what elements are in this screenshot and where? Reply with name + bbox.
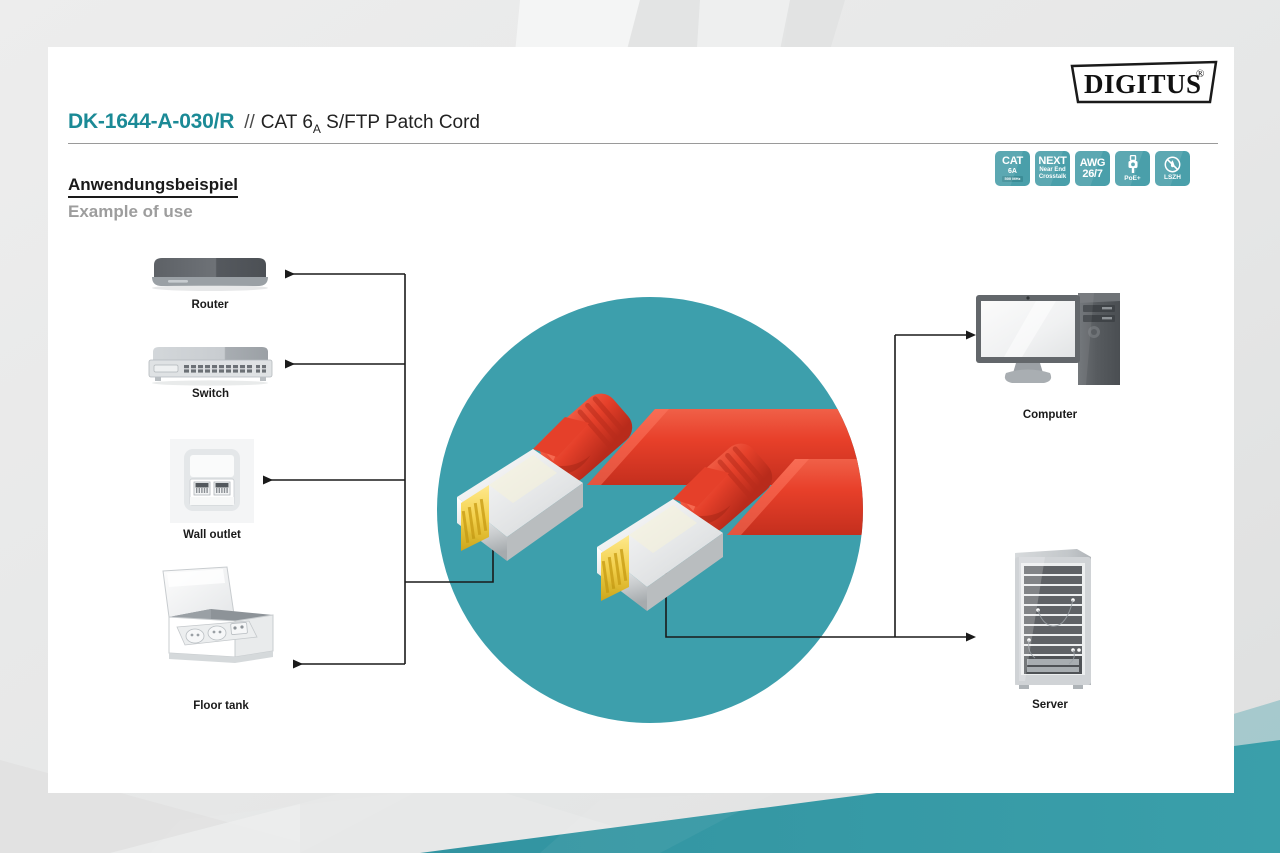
application-diagram: Router (48, 47, 1234, 793)
router-label: Router (146, 299, 274, 311)
floor-tank-label: Floor tank (153, 700, 289, 712)
router-icon (146, 255, 274, 297)
floor-tank-icon (153, 565, 289, 675)
switch-label: Switch (143, 388, 278, 400)
datasheet-card: DIGITUS ® DK-1644-A-030/R//CAT 6A S/FTP … (48, 47, 1234, 793)
computer-icon (970, 285, 1130, 393)
wall-outlet-label: Wall outlet (156, 529, 268, 541)
computer-label: Computer (970, 409, 1130, 421)
server-label: Server (1003, 699, 1097, 711)
server-icon (1003, 543, 1097, 691)
cat6a-sftp-patch-cord (437, 297, 863, 723)
switch-icon (143, 344, 278, 390)
wall-outlet-icon (168, 437, 256, 525)
